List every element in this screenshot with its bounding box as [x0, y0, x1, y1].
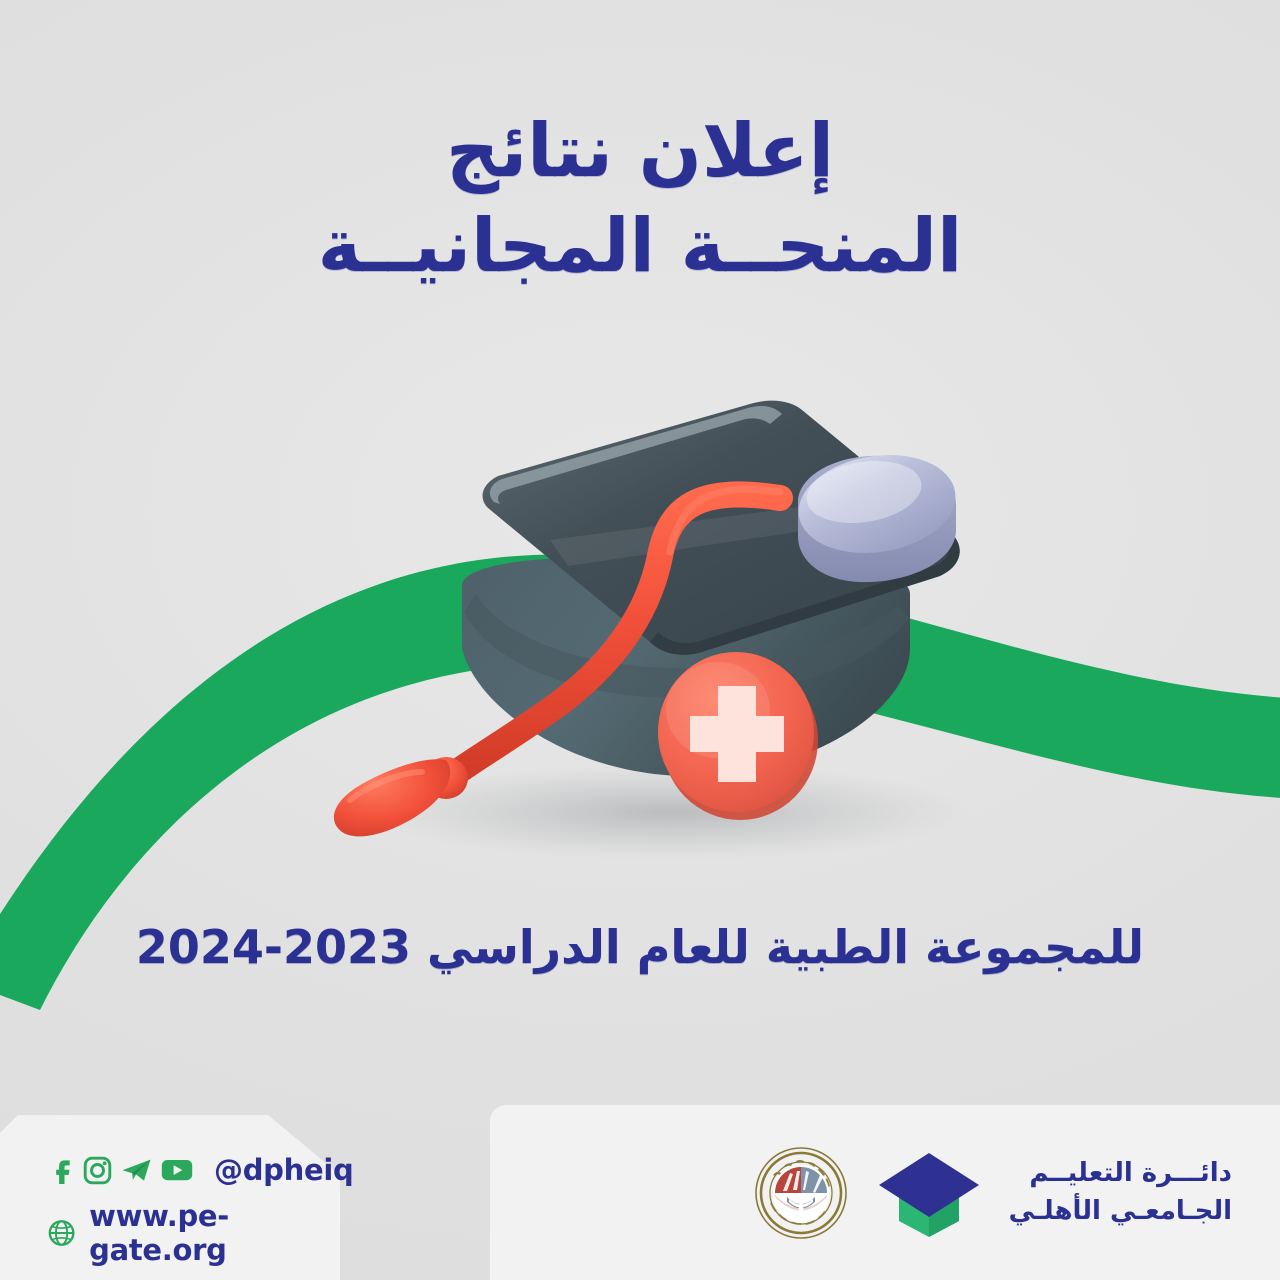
footer-contact-block: @dpheiq www.pe-gate.org [0, 1115, 340, 1280]
headline-line-1: إعلان نتائج [0, 108, 1280, 195]
headline-line-2: المنحــة المجانيــة [0, 203, 1280, 290]
globe-icon[interactable] [48, 1218, 75, 1248]
social-links-row: @dpheiq [48, 1153, 353, 1187]
ministry-seal-icon [753, 1145, 849, 1241]
organization-block: دائـــرة التعليــم الجـامعـي الأهلـي [753, 1105, 1232, 1280]
telegram-icon[interactable] [121, 1156, 152, 1185]
footer-right-panel: دائـــرة التعليــم الجـامعـي الأهلـي [490, 1105, 1280, 1280]
org-name-line-2: الجـامعـي الأهلـي [1009, 1193, 1232, 1231]
poster-canvas: إعلان نتائج المنحــة المجانيــة [0, 0, 1280, 1280]
page-title: إعلان نتائج المنحــة المجانيــة [0, 108, 1280, 291]
medical-graduation-cap-illustration [250, 380, 1070, 880]
social-handle[interactable]: @dpheiq [214, 1153, 353, 1187]
subtitle: للمجموعة الطبية للعام الدراسي 2023-2024 [0, 920, 1280, 974]
org-cap-logo-icon [875, 1147, 983, 1239]
organization-name: دائـــرة التعليــم الجـامعـي الأهلـي [1009, 1155, 1232, 1230]
website-url[interactable]: www.pe-gate.org [89, 1199, 340, 1267]
youtube-icon[interactable] [161, 1158, 193, 1182]
facebook-icon[interactable] [48, 1156, 74, 1184]
org-name-line-1: دائـــرة التعليــم [1009, 1155, 1232, 1193]
instagram-icon[interactable] [83, 1156, 112, 1185]
website-row: www.pe-gate.org [48, 1199, 340, 1267]
